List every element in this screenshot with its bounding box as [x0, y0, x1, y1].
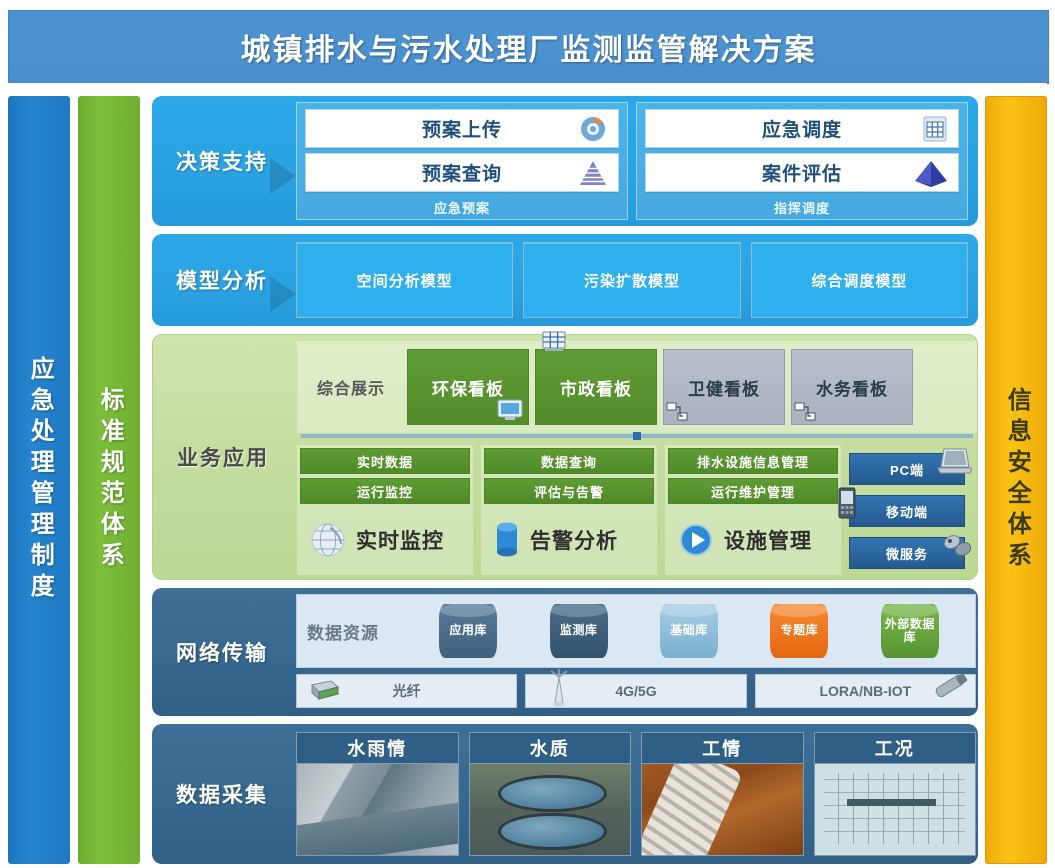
- database-label: 监测库: [560, 624, 598, 637]
- transport-label: LORA/NB-IOT: [819, 683, 911, 699]
- data-card-title: 水质: [470, 733, 631, 764]
- mobile-phone-icon: [836, 486, 858, 520]
- data-card-water-quality[interactable]: 水质: [469, 732, 632, 856]
- data-card-water-rain[interactable]: 水雨情: [296, 732, 459, 856]
- app-main-label: 告警分析: [530, 525, 618, 555]
- applications-band: 实时数据 运行监控 实时监控: [297, 445, 977, 575]
- model-card-pollution-diffusion[interactable]: 污染扩散模型: [523, 242, 740, 318]
- device-button-microservice[interactable]: 微服务: [849, 537, 965, 569]
- transport-label: 光纤: [393, 681, 421, 701]
- device-endpoints: PC端 移动端: [849, 445, 965, 575]
- board-water-affairs[interactable]: 水务看板: [791, 349, 913, 425]
- database-application[interactable]: 应用库: [439, 604, 497, 658]
- layer-label-model-analysis: 模型分析: [152, 234, 292, 326]
- database-external[interactable]: 外部数据库: [881, 604, 939, 658]
- app-button-data-query[interactable]: 数据查询: [484, 448, 654, 474]
- data-card-photo-pipeline: [642, 764, 803, 855]
- app-button-drainage-facility-info[interactable]: 排水设施信息管理: [668, 448, 838, 474]
- architecture-stack: 决策支持 预案上传: [152, 96, 978, 864]
- pillar-label-standards: 标准规范体系: [96, 387, 122, 573]
- comprehensive-display-band: 综合展示 环保看板 市政看板: [297, 341, 977, 433]
- database-label: 外部数据库: [881, 618, 939, 644]
- page-title: 城镇排水与污水处理厂监测监管解决方案: [241, 25, 817, 69]
- network-icon: [666, 402, 688, 422]
- board-label: 环保看板: [432, 375, 504, 400]
- app-column-alarm: 数据查询 评估与告警 告警分析: [481, 445, 657, 575]
- pillar-information-security-system: 信息安全体系: [985, 96, 1047, 864]
- decision-item-label: 预案查询: [422, 159, 502, 186]
- decision-item-label: 预案上传: [422, 115, 502, 142]
- layer-model-analysis: 模型分析 空间分析模型 污染扩散模型 综合调度模型: [152, 234, 978, 326]
- app-column-facility: 排水设施信息管理 运行维护管理 设施管理: [665, 445, 841, 575]
- layer-decision-support: 决策支持 预案上传: [152, 96, 978, 226]
- app-button-evaluation-alarm[interactable]: 评估与告警: [484, 478, 654, 504]
- transport-fiber[interactable]: 光纤: [296, 674, 517, 708]
- building-icon: [540, 330, 568, 354]
- layer-label-business-application: 业务应用: [153, 335, 293, 579]
- data-card-photo-river: [297, 764, 458, 855]
- play-circle-icon: [676, 520, 716, 560]
- recycle-icon: [578, 114, 608, 144]
- decision-group-caption-emergency: 应急预案: [305, 197, 619, 217]
- app-main-facility-management[interactable]: 设施管理: [668, 508, 838, 572]
- model-card-label: 污染扩散模型: [584, 270, 680, 291]
- app-button-realtime-data[interactable]: 实时数据: [300, 448, 470, 474]
- data-card-title: 水雨情: [297, 733, 458, 764]
- app-column-realtime: 实时数据 运行监控 实时监控: [297, 445, 473, 575]
- device-label: PC端: [890, 460, 924, 479]
- calendar-grid-icon: [922, 115, 948, 143]
- microservice-icon: [940, 532, 974, 560]
- decision-group-caption-dispatch: 指挥调度: [645, 197, 959, 217]
- device-button-mobile[interactable]: 移动端: [849, 495, 965, 527]
- transport-4g5g[interactable]: 4G/5G: [525, 674, 746, 708]
- model-card-label: 综合调度模型: [811, 270, 907, 291]
- data-card-works-status[interactable]: 工情: [641, 732, 804, 856]
- layer-label-decision-support: 决策支持: [152, 96, 292, 226]
- pillar-label-emergency: 应急处理管理制度: [26, 356, 52, 604]
- decision-group-command-dispatch: 应急调度: [636, 102, 968, 220]
- network-icon: [794, 402, 816, 422]
- pillar-label-security: 信息安全体系: [1003, 387, 1029, 573]
- app-main-label: 设施管理: [724, 525, 812, 555]
- decision-item-case-evaluation[interactable]: 案件评估: [645, 153, 959, 192]
- app-main-label: 实时监控: [356, 525, 444, 555]
- layer-data-collection: 数据采集 水雨情 水质 工情 工况: [152, 724, 978, 864]
- decision-item-plan-query[interactable]: 预案查询: [305, 153, 619, 192]
- page-title-bar: 城镇排水与污水处理厂监测监管解决方案: [8, 10, 1049, 84]
- laptop-icon: [936, 446, 972, 476]
- board-label: 市政看板: [560, 375, 632, 400]
- antenna-icon: [546, 669, 572, 709]
- decision-item-plan-upload[interactable]: 预案上传: [305, 109, 619, 148]
- transport-lora-nbiot[interactable]: LORA/NB-IOT: [755, 674, 976, 708]
- data-resources-band: 数据资源 应用库 监测库 基础库 专题库: [296, 594, 976, 668]
- model-card-label: 空间分析模型: [357, 270, 453, 291]
- model-card-integrated-dispatch[interactable]: 综合调度模型: [751, 242, 968, 318]
- data-card-title: 工情: [642, 733, 803, 764]
- app-button-operation-maintenance[interactable]: 运行维护管理: [668, 478, 838, 504]
- data-card-photo-tank: [470, 764, 631, 855]
- solution-architecture-page: 城镇排水与污水处理厂监测监管解决方案 应急处理管理制度 标准规范体系 信息安全体…: [0, 0, 1055, 868]
- decision-item-label: 应急调度: [762, 115, 842, 142]
- transport-label: 4G/5G: [615, 683, 656, 699]
- board-label: 卫健看板: [688, 375, 760, 400]
- database-thematic[interactable]: 专题库: [770, 604, 828, 658]
- database-basic[interactable]: 基础库: [660, 604, 718, 658]
- transport-media-row: 光纤 4G/5G: [296, 674, 976, 708]
- pyramid-chart-icon: [578, 159, 608, 187]
- layer-label-network-transmission: 网络传输: [152, 588, 292, 716]
- pyramid-3d-icon: [914, 159, 948, 187]
- decision-group-emergency-plan: 预案上传 预案查询: [296, 102, 628, 220]
- app-main-realtime-monitoring[interactable]: 实时监控: [300, 508, 470, 572]
- data-card-operating-condition[interactable]: 工况: [814, 732, 977, 856]
- boards-label: 综合展示: [301, 375, 401, 399]
- data-card-title: 工况: [815, 733, 976, 764]
- decision-item-emergency-dispatch[interactable]: 应急调度: [645, 109, 959, 148]
- board-health[interactable]: 卫健看板: [663, 349, 785, 425]
- database-monitoring[interactable]: 监测库: [550, 604, 608, 658]
- layer-business-application: 业务应用 综合展示 环保看板: [152, 334, 978, 580]
- app-button-operation-monitoring[interactable]: 运行监控: [300, 478, 470, 504]
- layer-label-data-collection: 数据采集: [152, 724, 292, 864]
- board-municipal[interactable]: 市政看板: [535, 349, 657, 425]
- device-label: 微服务: [886, 544, 928, 563]
- pillar-standards-specification-system: 标准规范体系: [78, 96, 140, 864]
- database-label: 应用库: [449, 624, 487, 637]
- app-main-alarm-analysis[interactable]: 告警分析: [484, 508, 654, 572]
- globe-icon: [308, 520, 348, 560]
- boards-divider: [301, 434, 973, 438]
- monitor-icon: [496, 398, 524, 422]
- decision-item-label: 案件评估: [762, 159, 842, 186]
- layer-network-transmission: 网络传输 数据资源 应用库 监测库 基础库: [152, 588, 978, 716]
- database-label: 专题库: [781, 624, 819, 637]
- sensor-icon: [929, 669, 973, 705]
- device-button-pc[interactable]: PC端: [849, 453, 965, 485]
- device-label: 移动端: [886, 502, 928, 521]
- board-environment[interactable]: 环保看板: [407, 349, 529, 425]
- pillar-emergency-management-system: 应急处理管理制度: [8, 96, 70, 864]
- database-label: 基础库: [670, 624, 708, 637]
- data-resources-label: 数据资源: [307, 619, 403, 644]
- fiber-cable-icon: [307, 677, 341, 703]
- database-icon: [492, 521, 522, 559]
- board-label: 水务看板: [816, 375, 888, 400]
- data-card-photo-scada: [815, 764, 976, 855]
- title-divider: [8, 83, 1047, 87]
